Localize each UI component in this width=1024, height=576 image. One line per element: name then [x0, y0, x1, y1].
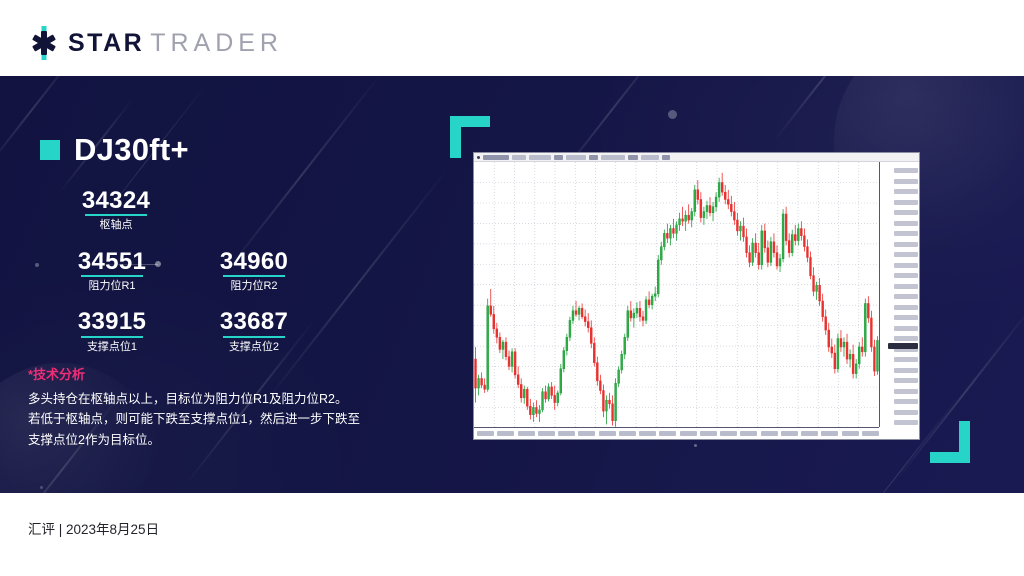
price-axis-label — [894, 179, 918, 184]
time-axis-label — [538, 431, 555, 436]
price-axis-label — [894, 210, 918, 215]
price-axis-label — [894, 273, 918, 278]
level-s2: 33687 支撑点位2 — [194, 309, 314, 354]
level-s1-value: 33915 — [52, 309, 172, 334]
instrument-symbol: DJ30ft+ — [74, 134, 189, 165]
chart-title-token — [628, 155, 638, 160]
chart-title-token — [589, 155, 598, 160]
level-underline — [223, 275, 285, 277]
main-panel: DJ30ft+ 34324 枢轴点 34551 阻力位R1 34960 — [0, 76, 1024, 493]
corner-bracket-bottom-right — [930, 421, 970, 463]
price-axis-label — [894, 410, 918, 415]
decor-dot — [668, 110, 677, 119]
decor-dot — [40, 486, 43, 489]
price-axis[interactable] — [879, 162, 919, 427]
pivot-row: 34324 枢轴点 — [56, 188, 382, 233]
time-axis-label — [497, 431, 514, 436]
footer-caption: 汇评 | 2023年8月25日 — [28, 518, 159, 538]
decor-dot — [35, 263, 39, 267]
time-axis-label — [599, 431, 616, 436]
brand-name-bold: STAR — [68, 31, 144, 56]
price-axis-label — [894, 168, 918, 173]
time-axis-label — [680, 431, 697, 436]
brand-name-light: TRADER — [150, 31, 283, 56]
price-axis-label — [894, 368, 918, 373]
level-r2: 34960 阻力位R2 — [194, 249, 314, 294]
price-axis-label — [894, 231, 918, 236]
time-axis-label — [842, 431, 859, 436]
current-price-label — [888, 343, 918, 349]
time-axis-label — [659, 431, 676, 436]
slide-root: STAR TRADER DJ30ft+ — [0, 0, 1024, 576]
time-axis[interactable] — [474, 427, 879, 439]
level-underline — [223, 336, 285, 338]
level-r1: 34551 阻力位R1 — [52, 249, 172, 294]
time-axis-label — [781, 431, 798, 436]
price-axis-label — [894, 305, 918, 310]
chart-title-token — [529, 155, 551, 160]
decor-dot — [694, 444, 697, 447]
level-r2-label: 阻力位R2 — [194, 280, 314, 293]
price-axis-label — [894, 357, 918, 362]
price-axis-label — [894, 420, 918, 425]
analysis-line-2: 若低于枢轴点，则可能下跌至支撑点位1，然后进一步下跌至 — [28, 409, 428, 429]
time-axis-label — [821, 431, 838, 436]
instrument-title: DJ30ft+ — [40, 134, 189, 165]
price-axis-label — [894, 389, 918, 394]
price-axis-label — [894, 252, 918, 257]
resistance-row: 34551 阻力位R1 34960 阻力位R2 — [52, 249, 382, 294]
brand-wordmark: STAR TRADER — [68, 31, 283, 56]
level-pivot-label: 枢轴点 — [56, 219, 176, 232]
price-axis-label — [894, 399, 918, 404]
time-axis-label — [720, 431, 737, 436]
price-axis-label — [894, 200, 918, 205]
time-axis-label — [700, 431, 717, 436]
chart-title-token — [483, 155, 509, 160]
price-axis-label — [894, 326, 918, 331]
chart-title-token — [601, 155, 625, 160]
price-axis-label — [894, 336, 918, 341]
level-r1-label: 阻力位R1 — [52, 280, 172, 293]
time-axis-label — [518, 431, 535, 436]
pivot-levels: 34324 枢轴点 34551 阻力位R1 34960 阻力位R2 — [52, 188, 382, 354]
price-axis-label — [894, 263, 918, 268]
support-row: 33915 支撑点位1 33687 支撑点位2 — [52, 309, 382, 354]
time-axis-label — [639, 431, 656, 436]
header-bar: STAR TRADER — [0, 0, 1024, 76]
chart-title-token — [566, 155, 586, 160]
asterisk-star-icon — [28, 26, 60, 60]
time-axis-label — [801, 431, 818, 436]
level-r1-value: 34551 — [52, 249, 172, 274]
price-axis-label — [894, 378, 918, 383]
time-axis-label — [619, 431, 636, 436]
analysis-line-3: 支撑点位2作为目标位。 — [28, 430, 428, 450]
candlestick-plot[interactable] — [474, 162, 879, 427]
chart-title-token — [512, 155, 526, 160]
chart-symbol-dot-icon — [477, 156, 480, 159]
price-axis-label — [894, 189, 918, 194]
time-axis-label — [862, 431, 879, 436]
time-axis-label — [578, 431, 595, 436]
level-pivot-value: 34324 — [56, 188, 176, 213]
analysis-line-1: 多头持仓在枢轴点以上，目标位为阻力位R1及阻力位R2。 — [28, 389, 428, 409]
chart-title-token — [662, 155, 670, 160]
title-bullet-square — [40, 140, 60, 160]
level-underline — [81, 275, 143, 277]
price-axis-label — [894, 242, 918, 247]
time-axis-label — [558, 431, 575, 436]
mt4-chart-window[interactable] — [473, 152, 920, 440]
price-axis-label — [894, 294, 918, 299]
chart-title-token — [554, 155, 563, 160]
time-axis-label — [477, 431, 494, 436]
level-pivot: 34324 枢轴点 — [56, 188, 176, 233]
brand-logo: STAR TRADER — [28, 26, 283, 60]
technical-analysis: *技术分析 多头持仓在枢轴点以上，目标位为阻力位R1及阻力位R2。 若低于枢轴点… — [28, 366, 428, 450]
level-underline — [81, 336, 143, 338]
price-axis-label — [894, 284, 918, 289]
time-axis-label — [761, 431, 778, 436]
footer-bar: 汇评 | 2023年8月25日 — [0, 493, 1024, 576]
level-underline — [85, 214, 147, 216]
chart-title-token — [641, 155, 659, 160]
chart-title-bar — [474, 153, 919, 162]
candlestick-svg — [474, 162, 879, 427]
level-s2-label: 支撑点位2 — [194, 341, 314, 354]
time-axis-label — [740, 431, 757, 436]
price-axis-label — [894, 221, 918, 226]
level-s2-value: 33687 — [194, 309, 314, 334]
level-r2-value: 34960 — [194, 249, 314, 274]
price-axis-label — [894, 315, 918, 320]
level-s1-label: 支撑点位1 — [52, 341, 172, 354]
analysis-heading: *技术分析 — [28, 366, 428, 384]
level-s1: 33915 支撑点位1 — [52, 309, 172, 354]
